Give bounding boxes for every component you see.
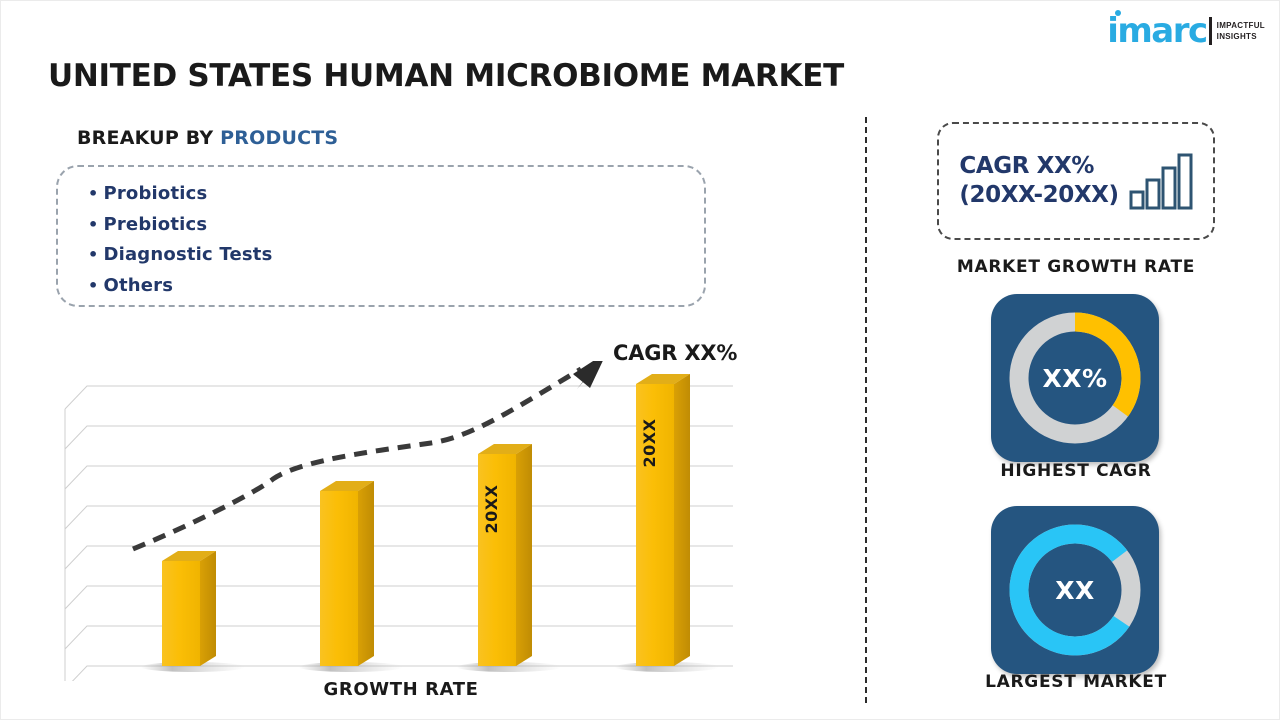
logo-separator <box>1209 17 1212 45</box>
list-item: •Diagnostic Tests <box>88 240 704 271</box>
chart-bar <box>162 551 216 666</box>
logo-wordmark: imarc <box>1107 16 1206 46</box>
logo-mark: imarc <box>1107 16 1206 46</box>
chart-bar: 20XX <box>478 444 532 666</box>
bullet-icon: • <box>88 184 103 203</box>
section-subtitle: BREAKUP BY PRODUCTS <box>77 127 338 149</box>
list-item-label: Others <box>103 275 173 296</box>
chart-bar <box>320 481 374 666</box>
bar-value-label: 20XX <box>482 484 501 533</box>
bar-value-label: 20XX <box>640 418 659 467</box>
bar-shadows <box>141 662 719 672</box>
growth-rate-chart: 20XX 20XX GROWTH RATE <box>61 361 741 706</box>
highest-cagr-value: XX% <box>991 294 1159 462</box>
logo-tagline-line1: IMPACTFUL <box>1217 20 1265 31</box>
page-title: UNITED STATES HUMAN MICROBIOME MARKET <box>48 58 844 94</box>
chart-svg: 20XX 20XX <box>61 361 741 681</box>
cagr-line1: CAGR XX% <box>959 152 1118 181</box>
list-item: •Others <box>88 271 704 302</box>
market-growth-rate-caption: MARKET GROWTH RATE <box>937 257 1215 277</box>
logo-tagline-line2: INSIGHTS <box>1217 31 1265 42</box>
largest-market-value: XX <box>991 506 1159 674</box>
highest-cagr-caption: HIGHEST CAGR <box>937 461 1215 481</box>
subtitle-highlight: PRODUCTS <box>220 127 338 149</box>
bullet-icon: • <box>88 276 103 295</box>
market-growth-rate-text: CAGR XX% (20XX-20XX) <box>959 152 1118 210</box>
products-breakup-box: •Probiotics •Prebiotics •Diagnostic Test… <box>56 165 706 307</box>
largest-market-card: XX <box>991 506 1159 674</box>
chart-bar: 20XX <box>636 374 690 666</box>
list-item-label: Probiotics <box>103 183 207 204</box>
list-item: •Probiotics <box>88 179 704 210</box>
bar-chart-icon <box>1129 152 1193 210</box>
highest-cagr-card: XX% <box>991 294 1159 462</box>
logo-tagline: IMPACTFUL INSIGHTS <box>1217 20 1265 42</box>
list-item: •Prebiotics <box>88 210 704 241</box>
largest-market-caption: LARGEST MARKET <box>937 672 1215 692</box>
cagr-annotation: CAGR XX% <box>613 341 737 365</box>
slide-canvas: imarc IMPACTFUL INSIGHTS UNITED STATES H… <box>0 0 1280 720</box>
market-growth-rate-box: CAGR XX% (20XX-20XX) <box>937 122 1215 240</box>
section-divider <box>865 117 867 703</box>
imarc-logo: imarc IMPACTFUL INSIGHTS <box>1107 11 1265 51</box>
subtitle-prefix: BREAKUP BY <box>77 127 220 149</box>
bullet-icon: • <box>88 215 103 234</box>
bullet-icon: • <box>88 245 103 264</box>
chart-x-axis-label: GROWTH RATE <box>61 679 741 700</box>
list-item-label: Diagnostic Tests <box>103 244 272 265</box>
cagr-line2: (20XX-20XX) <box>959 181 1118 210</box>
list-item-label: Prebiotics <box>103 214 207 235</box>
